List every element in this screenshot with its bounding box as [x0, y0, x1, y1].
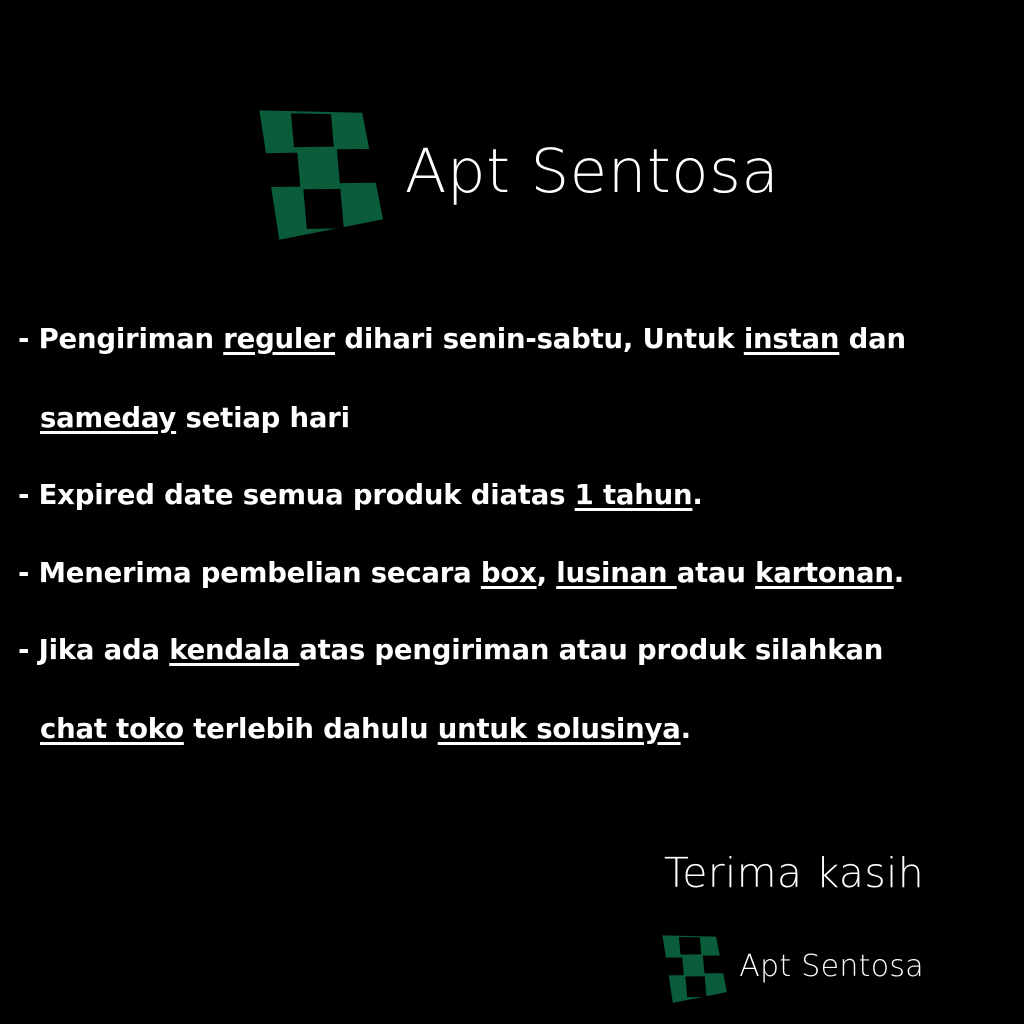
- emphasis-text: 1 tahun: [575, 479, 693, 511]
- emphasis-text: untuk solusinya: [438, 713, 681, 745]
- emphasis-text: box: [481, 557, 537, 589]
- note-expired-date: - Expired date semua produk diatas 1 tah…: [18, 482, 998, 510]
- plain-text: .: [681, 713, 691, 745]
- note-pembelian: - Menerima pembelian secara box, lusinan…: [18, 560, 998, 588]
- plain-text: atau: [677, 557, 755, 589]
- plain-text: dihari senin-sabtu, Untuk: [335, 323, 744, 355]
- emphasis-text: chat toko: [40, 713, 184, 745]
- emphasis-text: kartonan: [755, 557, 894, 589]
- plain-text: dan: [839, 323, 906, 355]
- brand-footer-title: Apt Sentosa: [739, 952, 924, 982]
- brand-title: Apt Sentosa: [405, 141, 780, 202]
- emphasis-text: lusinan: [556, 557, 677, 589]
- plain-text: - Expired date semua produk diatas: [18, 479, 575, 511]
- emphasis-text: kendala: [169, 634, 299, 666]
- plain-text: terlebih dahulu: [184, 713, 438, 745]
- apt-sentosa-logo-icon: [245, 96, 387, 246]
- emphasis-text: sameday: [40, 402, 176, 434]
- plain-text: - Jika ada: [18, 634, 169, 666]
- plain-text: - Menerima pembelian secara: [18, 557, 481, 589]
- note-kendala-cont: chat toko terlebih dahulu untuk solusiny…: [18, 716, 998, 744]
- emphasis-text: reguler: [223, 323, 335, 355]
- note-pengiriman-cont: sameday setiap hari: [18, 405, 998, 433]
- emphasis-text: instan: [744, 323, 839, 355]
- poster-canvas: Apt Sentosa - Pengiriman reguler dihari …: [0, 0, 1024, 1024]
- brand-header: Apt Sentosa: [0, 96, 1024, 246]
- plain-text: setiap hari: [176, 402, 350, 434]
- note-kendala: - Jika ada kendala atas pengiriman atau …: [18, 637, 998, 665]
- plain-text: .: [692, 479, 702, 511]
- plain-text: .: [894, 557, 904, 589]
- thanks-text: Terima kasih: [664, 853, 924, 894]
- plain-text: atas pengiriman atau produk silahkan: [299, 634, 883, 666]
- apt-sentosa-logo-icon: [655, 928, 729, 1006]
- note-pengiriman: - Pengiriman reguler dihari senin-sabtu,…: [18, 326, 998, 354]
- plain-text: - Pengiriman: [18, 323, 223, 355]
- brand-footer: Apt Sentosa: [655, 928, 924, 1006]
- plain-text: ,: [537, 557, 557, 589]
- store-notes-list: - Pengiriman reguler dihari senin-sabtu,…: [18, 326, 998, 743]
